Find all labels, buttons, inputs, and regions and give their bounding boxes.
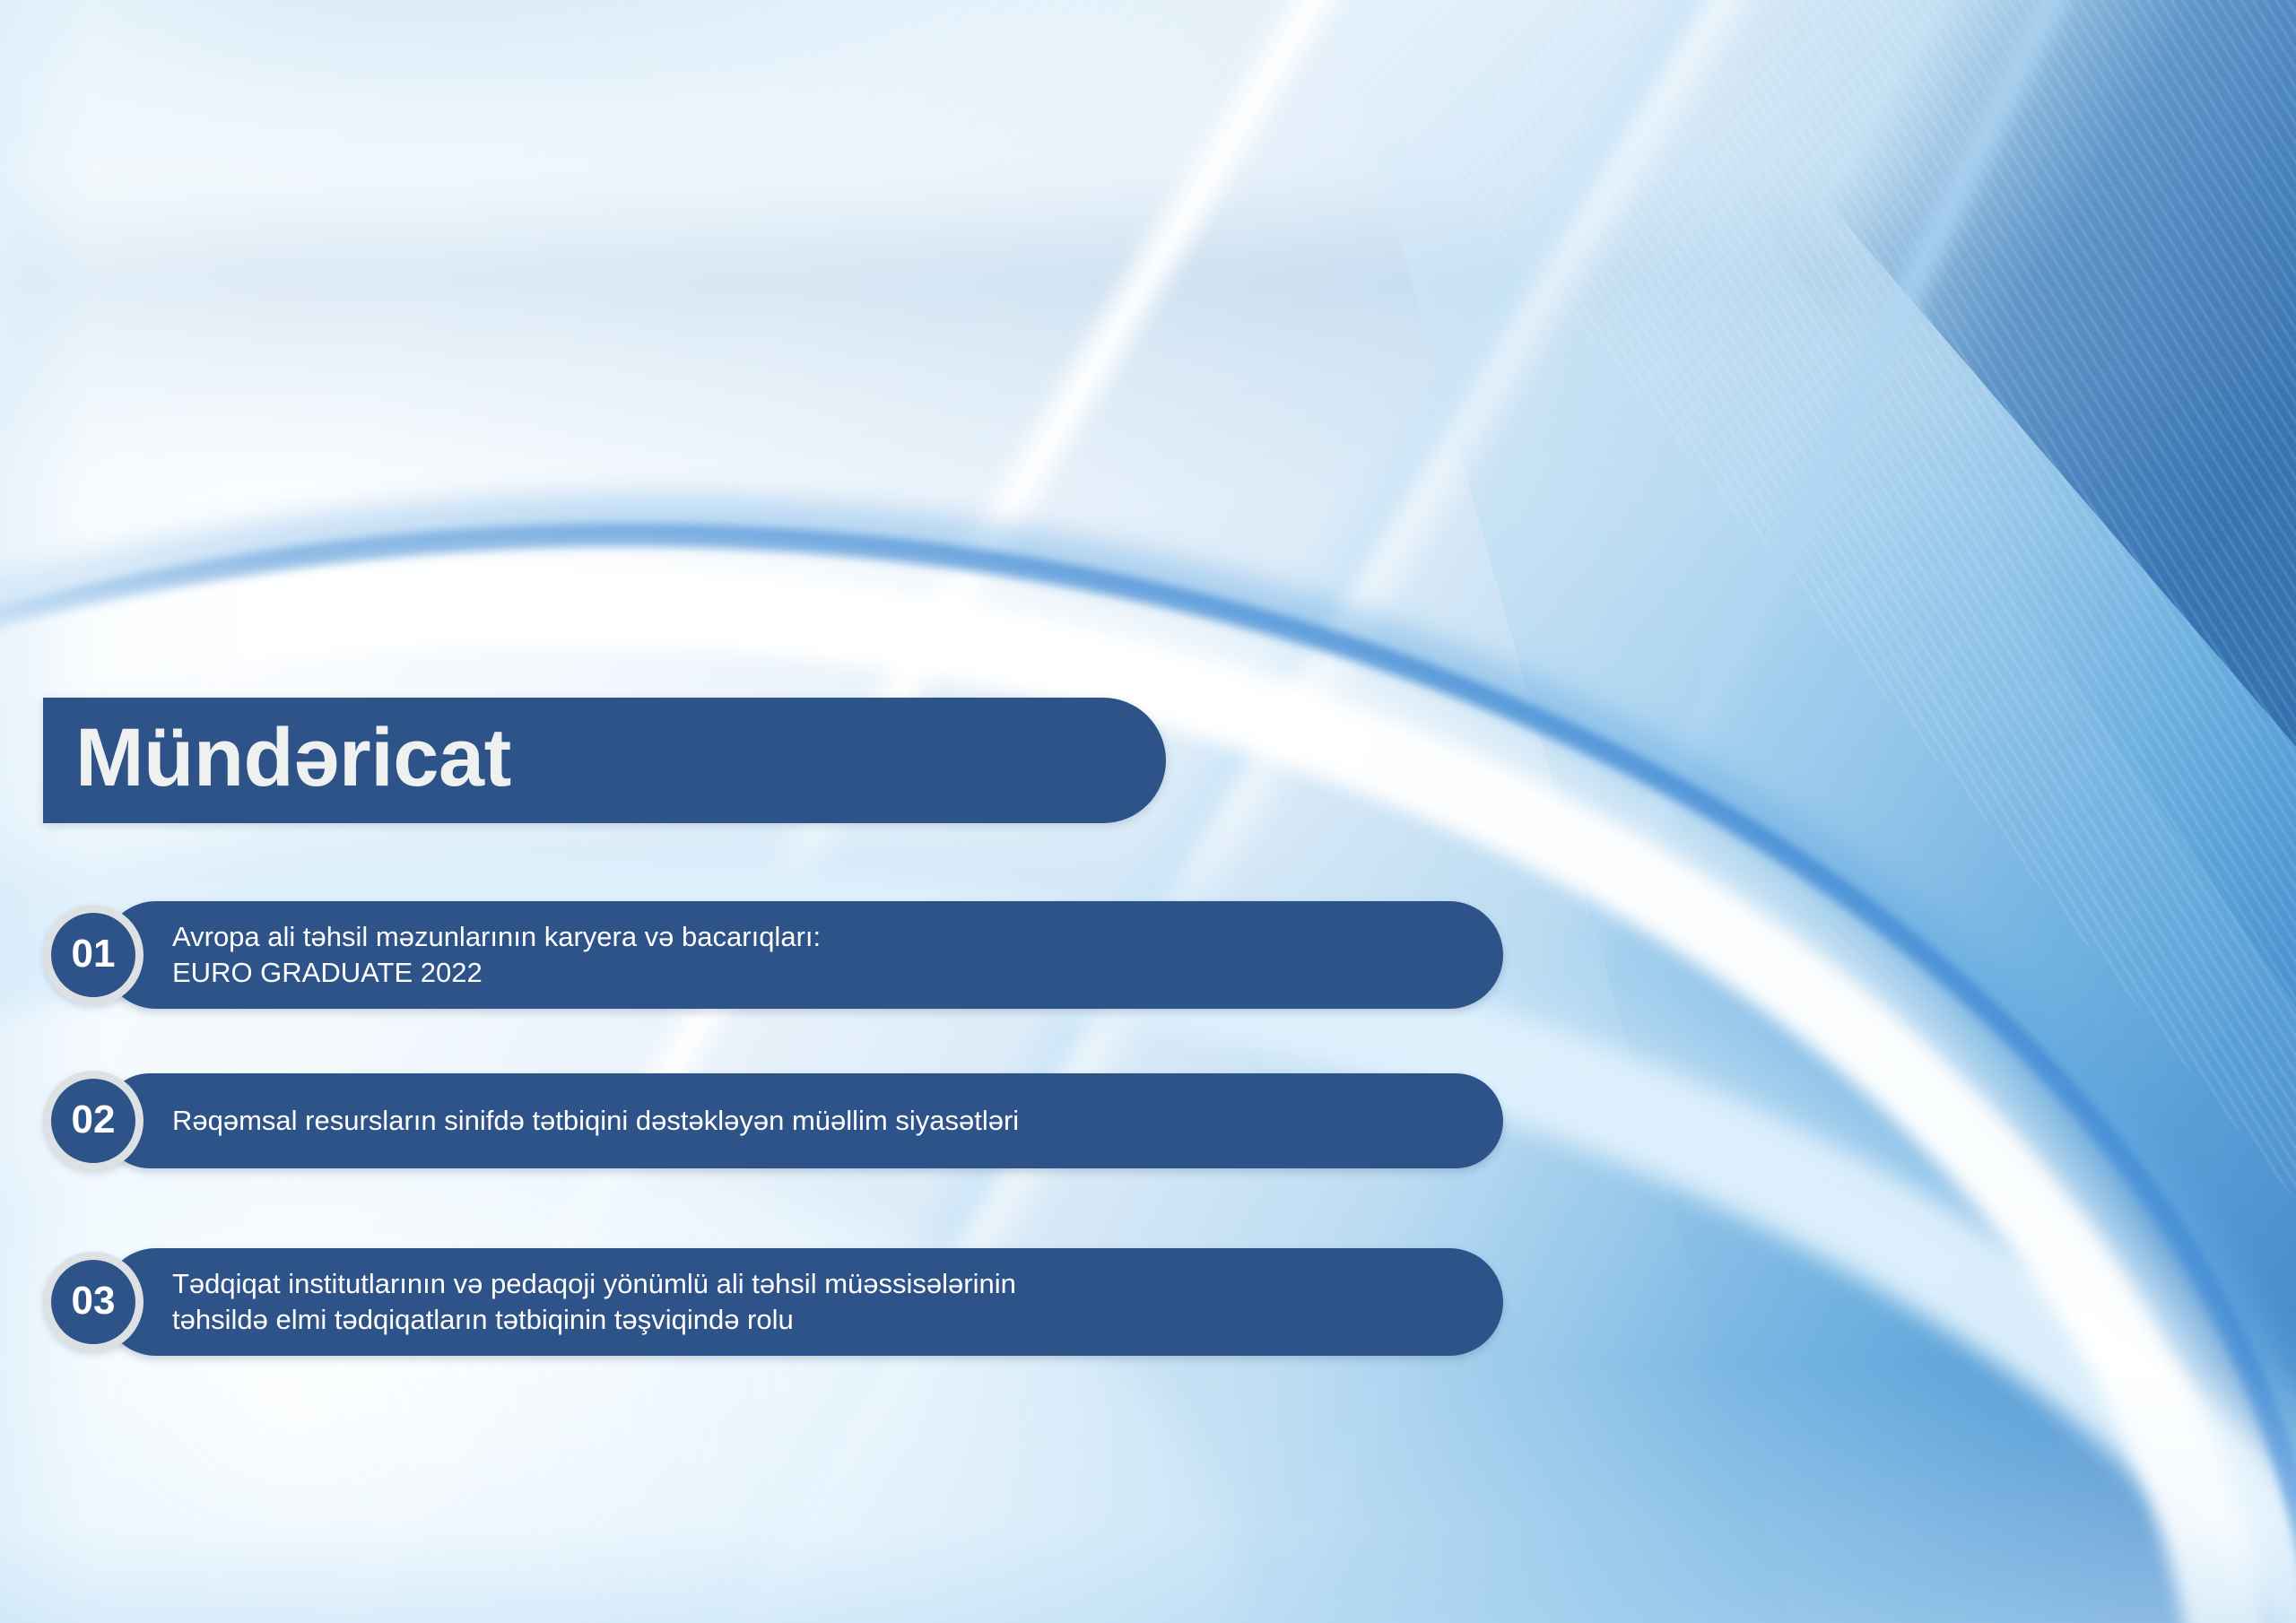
toc-item-02-number-badge: 02: [43, 1071, 143, 1171]
toc-item-01-line2: EURO GRADUATE 2022: [172, 955, 821, 991]
title-banner: Mündəricat: [43, 698, 1166, 823]
presentation-slide: Mündəricat Avropa ali təhsil məzunlarını…: [0, 0, 2296, 1623]
toc-item-01-number-badge: 01: [43, 905, 143, 1005]
toc-item-03-number: 03: [72, 1281, 116, 1321]
toc-item-01-text: Avropa ali təhsil məzunlarının karyera v…: [102, 919, 874, 990]
toc-item-02-line1: Rəqəmsal resursların sinifdə tətbiqini d…: [172, 1105, 1019, 1136]
toc-item-03-pill[interactable]: Tədqiqat institutlarının və pedaqoji yön…: [102, 1248, 1503, 1356]
toc-item-01-pill[interactable]: Avropa ali təhsil məzunlarının karyera v…: [102, 901, 1503, 1009]
toc-item-01-number: 01: [72, 934, 116, 974]
toc-item-01-line1: Avropa ali təhsil məzunlarının karyera v…: [172, 921, 821, 952]
slide-content: Mündəricat Avropa ali təhsil məzunlarını…: [0, 0, 2296, 1623]
toc-item-02-number: 02: [72, 1100, 116, 1140]
toc-item-03-number-badge: 03: [43, 1252, 143, 1352]
toc-item-03-line1: Tədqiqat institutlarının və pedaqoji yön…: [172, 1268, 1016, 1299]
toc-item-03-text: Tədqiqat institutlarının və pedaqoji yön…: [102, 1266, 1070, 1337]
page-title: Mündəricat: [43, 716, 511, 799]
toc-item-02-pill[interactable]: Rəqəmsal resursların sinifdə tətbiqini d…: [102, 1073, 1503, 1168]
toc-item-02-text: Rəqəmsal resursların sinifdə tətbiqini d…: [102, 1103, 1073, 1139]
toc-item-03-line2: təhsildə elmi tədqiqatların tətbiqinin t…: [172, 1302, 1016, 1338]
